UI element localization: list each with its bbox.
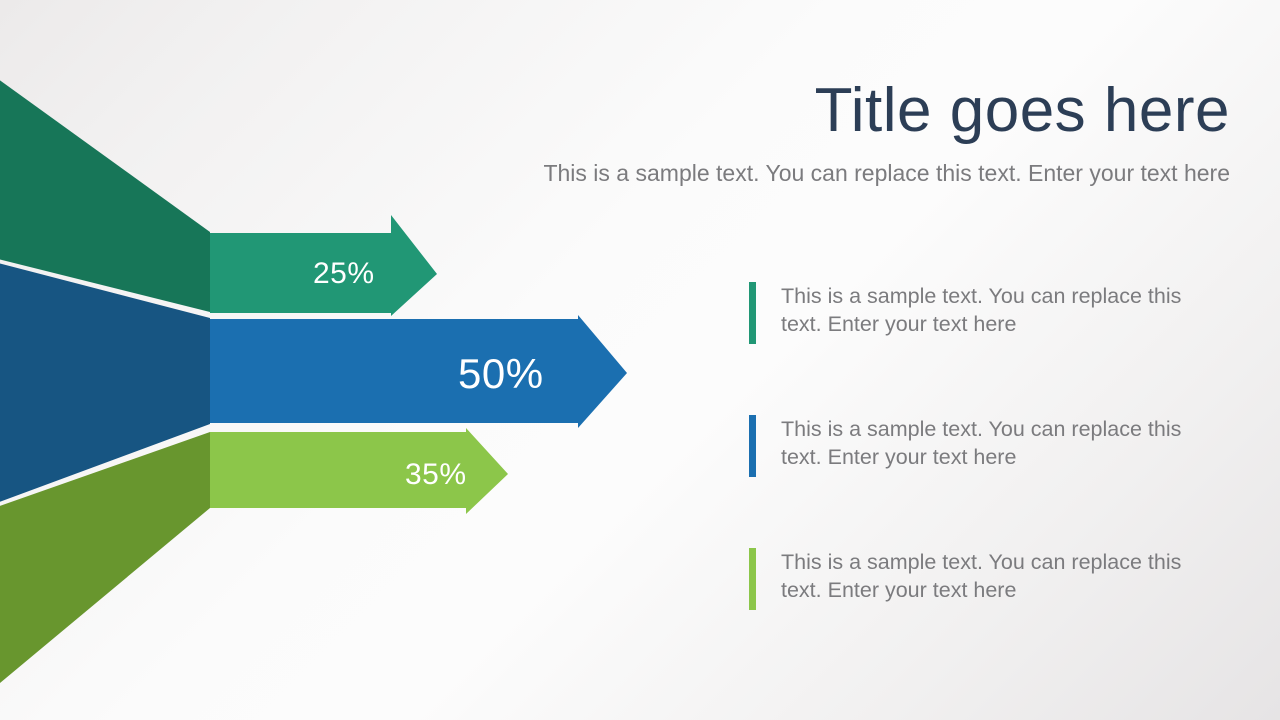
headline-block: Title goes here This is a sample text. Y…: [440, 78, 1230, 187]
arrow-value-label-35: 35%: [405, 458, 467, 492]
arrow-value-label-50: 50%: [458, 350, 544, 398]
slide-canvas: 25% 50% 35% Title goes here This is a sa…: [0, 0, 1280, 720]
bullet-accent-bar-teal: [749, 282, 756, 344]
bullet-list: This is a sample text. You can replace t…: [749, 282, 1219, 610]
page-subtitle: This is a sample text. You can replace t…: [440, 160, 1230, 188]
bullet-accent-bar-blue: [749, 415, 756, 477]
arrow-shape-50[interactable]: [210, 315, 627, 428]
list-item[interactable]: This is a sample text. You can replace t…: [749, 415, 1219, 477]
bullet-text: This is a sample text. You can replace t…: [756, 282, 1201, 339]
list-item[interactable]: This is a sample text. You can replace t…: [749, 548, 1219, 610]
page-title: Title goes here: [440, 78, 1230, 144]
bullet-text: This is a sample text. You can replace t…: [756, 548, 1201, 605]
bullet-accent-bar-green: [749, 548, 756, 610]
arrow-value-label-25: 25%: [313, 257, 375, 291]
list-item[interactable]: This is a sample text. You can replace t…: [749, 282, 1219, 344]
bullet-text: This is a sample text. You can replace t…: [756, 415, 1201, 472]
